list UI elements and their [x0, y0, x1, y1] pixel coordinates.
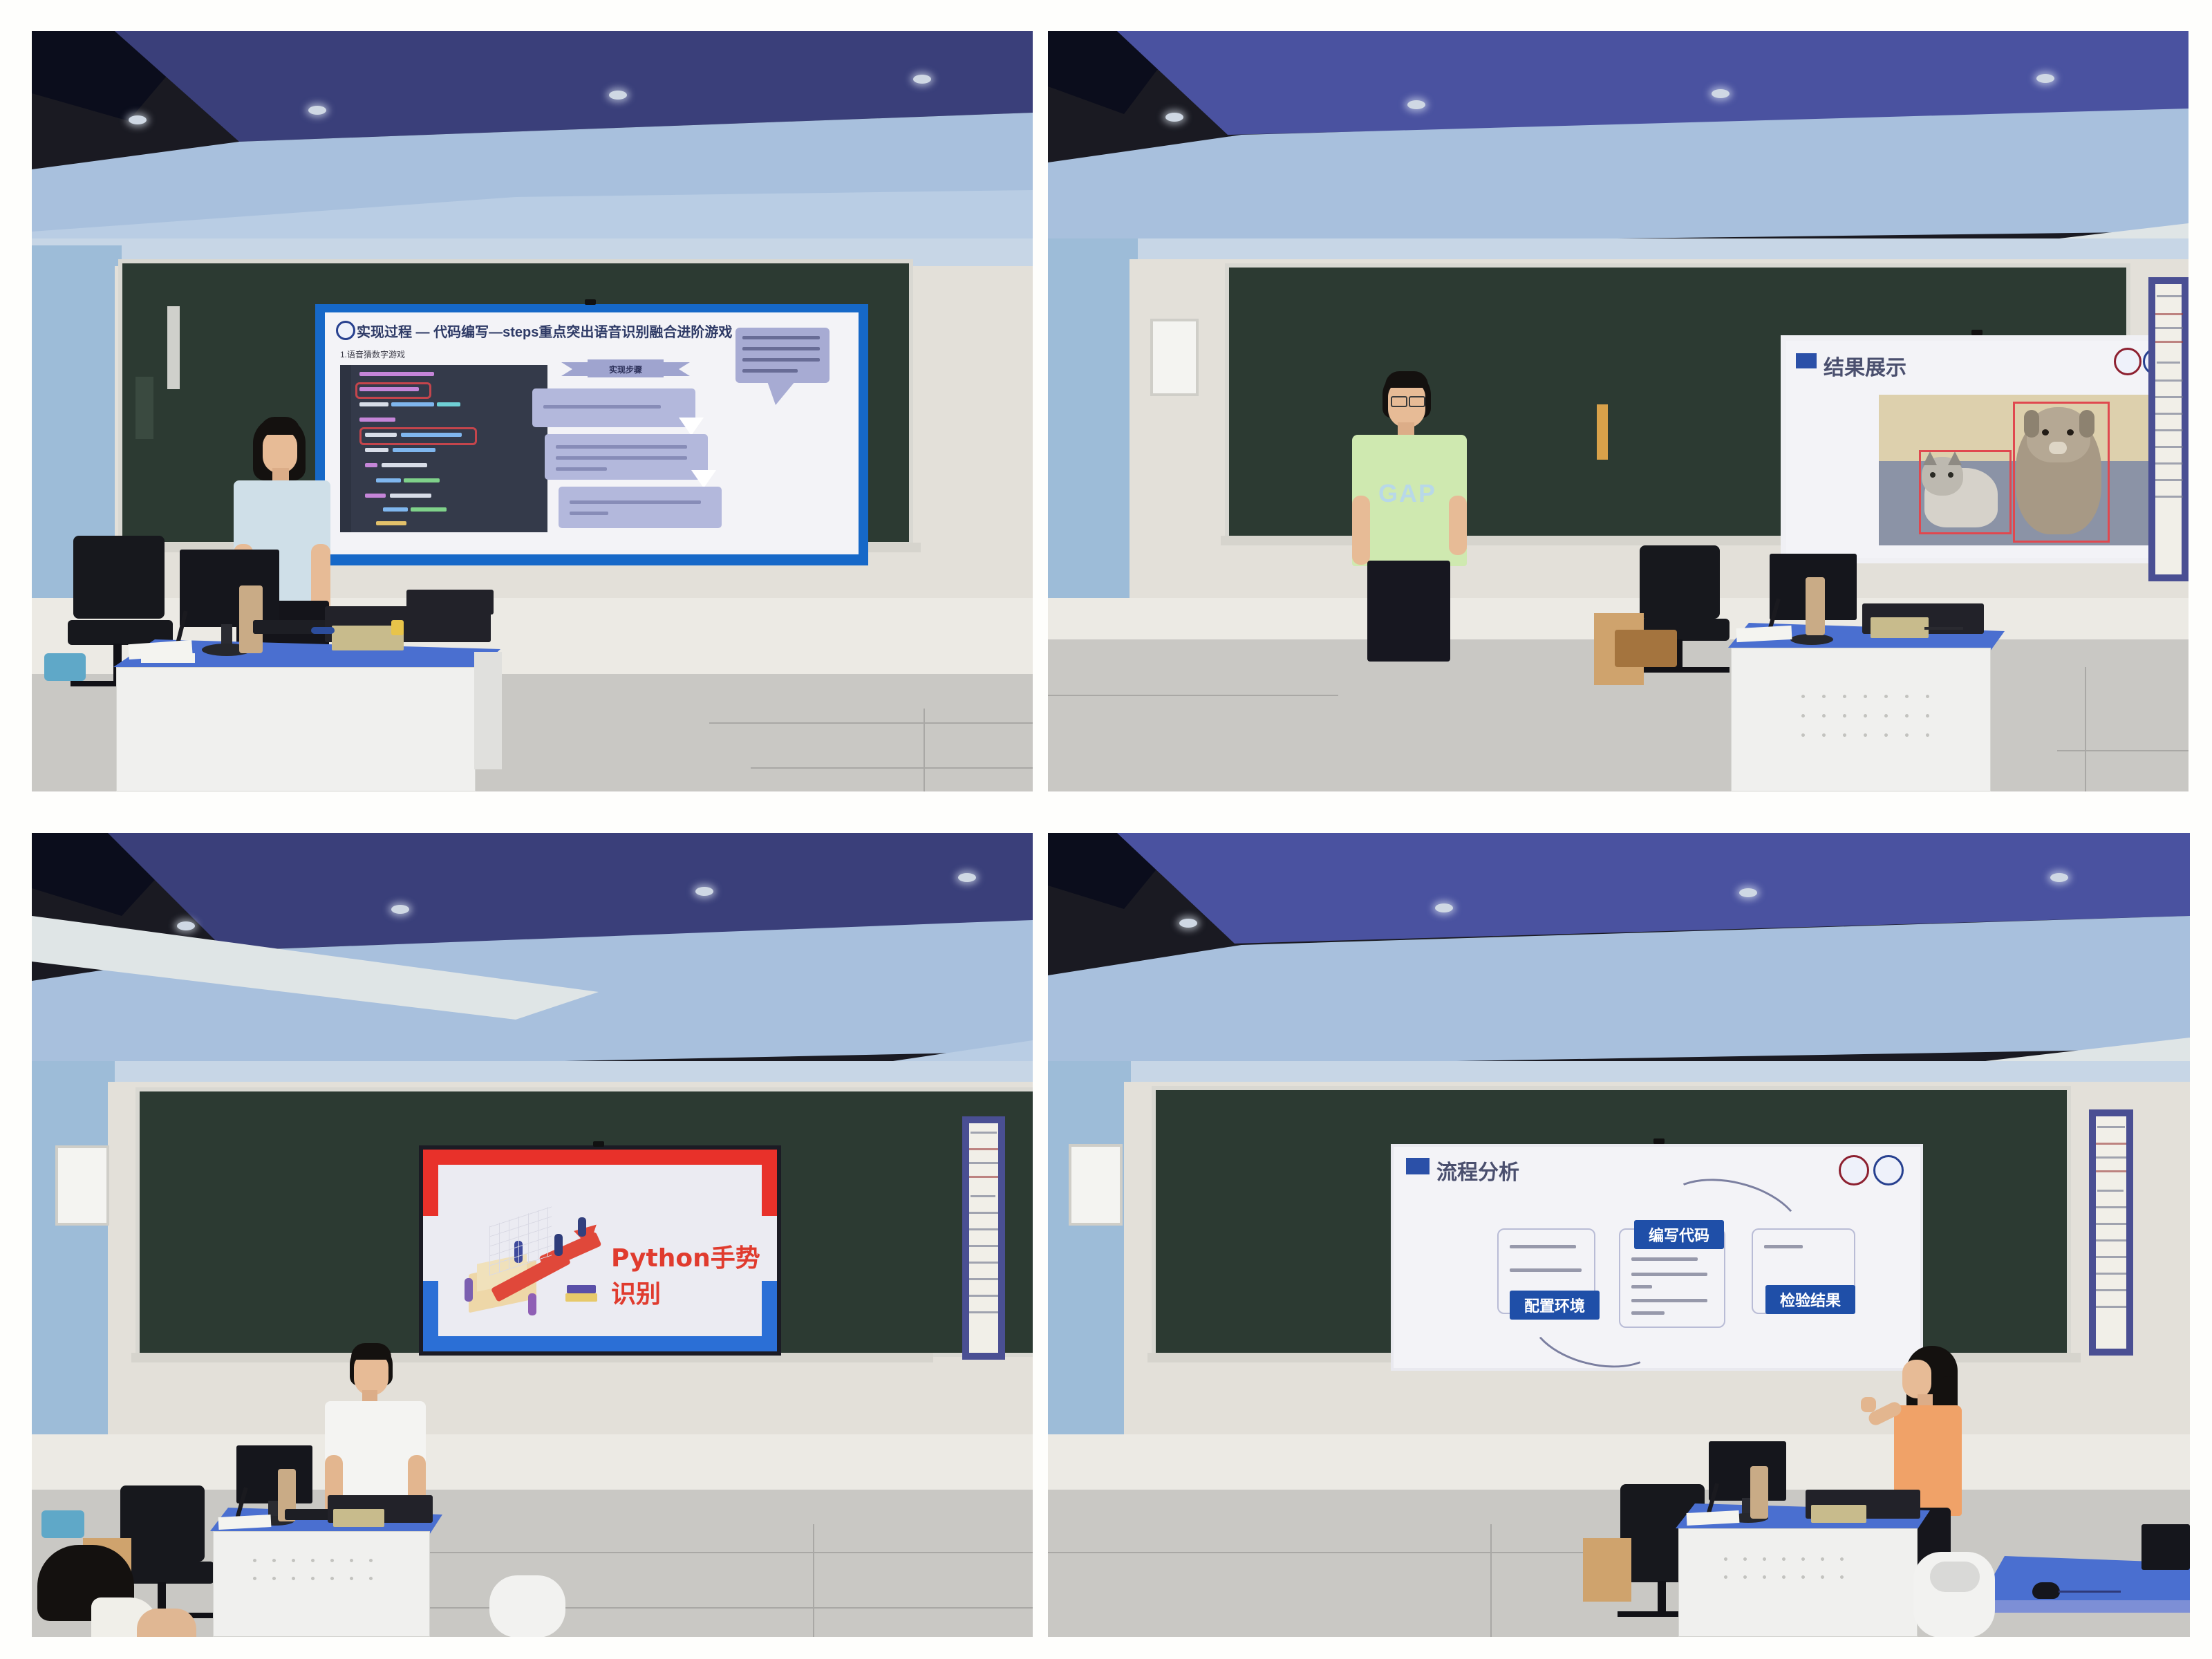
small-whiteboard — [1069, 1144, 1123, 1226]
screen-camera-dot — [1653, 1138, 1665, 1144]
school-logo-icon-1 — [2114, 348, 2141, 375]
photo-panel-bottom-left: Python手势识别 — [32, 833, 1033, 1637]
screen-camera-dot — [593, 1141, 604, 1147]
detection-box-dog — [2013, 402, 2110, 543]
desk-cable — [1924, 627, 1963, 630]
blue-basin — [41, 1510, 84, 1538]
desk-monitor — [180, 550, 279, 627]
screen-camera-dot — [1971, 330, 1983, 335]
ceiling-light-4 — [2050, 873, 2068, 882]
ceiling-light-4 — [2036, 74, 2054, 83]
desk-scissors — [311, 627, 335, 634]
mouse-cable — [2059, 1591, 2121, 1593]
desk-cardboard-box — [333, 1509, 384, 1527]
slide-title: 实现过程 — 代码编写—steps重点突出语音识别融合进阶游戏 — [357, 321, 732, 341]
illustration-books — [567, 1285, 596, 1293]
floor-tile-line-2 — [2085, 667, 2086, 791]
presenter-fringe — [351, 1343, 391, 1360]
photo-panel-top-right: 结果展示 — [1048, 31, 2188, 791]
cardboard-bin — [1583, 1538, 1631, 1602]
blue-basin — [44, 653, 86, 681]
floor-tile-line-1 — [1048, 1552, 1615, 1553]
desk-monitor — [236, 1445, 312, 1503]
ceiling-light-3 — [1712, 89, 1730, 98]
desk-papers — [1736, 626, 1792, 642]
blackboard-side-slider — [135, 377, 153, 439]
code-gutter — [340, 365, 351, 532]
illustration-person-4 — [578, 1217, 586, 1237]
presenter-arm-right — [1449, 496, 1467, 555]
ceiling-light-1 — [177, 921, 195, 930]
illustration-person-1 — [465, 1278, 473, 1302]
school-logo-icon-1 — [1839, 1155, 1869, 1185]
wall-blue-left — [1048, 238, 1138, 632]
small-whiteboard — [55, 1145, 109, 1226]
desk-equipment-2 — [406, 590, 494, 615]
floor-tile-line-2 — [751, 767, 1033, 769]
slide-title-python: Python手势识别 — [611, 1238, 777, 1310]
thermos-cup — [239, 585, 263, 653]
slide-ribbon-tail-left — [561, 362, 590, 376]
poster-heading-line — [2157, 295, 2182, 297]
illustration-books-2 — [565, 1293, 597, 1302]
wall-blue-left — [1048, 1061, 1131, 1490]
thermos-cup — [1750, 1466, 1768, 1519]
monitor-base — [1790, 634, 1833, 645]
office-chair-base — [1637, 667, 1730, 673]
presenter-trousers — [1367, 561, 1450, 662]
glasses-icon-right — [1409, 396, 1425, 407]
slide-python-title: Python手势识别 — [423, 1150, 777, 1351]
ceiling-light-2 — [1435, 903, 1453, 912]
foreground-white-chair-arm — [1930, 1562, 1980, 1592]
slide-accent-band-red — [423, 1150, 777, 1165]
slide-results-display: 结果展示 — [1786, 341, 2176, 558]
ceiling-light-4 — [958, 873, 976, 882]
slide-logo-icon — [336, 321, 355, 340]
slide-accent-band-blue-bottom — [423, 1336, 777, 1351]
code-highlight-2 — [359, 427, 477, 445]
ceiling-light-1 — [1165, 113, 1183, 122]
desk-perforation-panel — [1801, 695, 1940, 749]
presenter-fringe — [260, 417, 300, 435]
office-chair-back — [73, 536, 165, 619]
teacher-desk-side — [474, 652, 502, 769]
computer-mouse — [2032, 1582, 2060, 1599]
floor-tile-line-3 — [2057, 750, 2188, 751]
ceiling-light-3 — [1739, 888, 1757, 897]
student-desk-edge — [1980, 1600, 2190, 1613]
office-chair-back — [120, 1485, 205, 1562]
office-chair-back — [1640, 545, 1720, 619]
desk-monitor — [1709, 1441, 1786, 1501]
glasses-icon — [1391, 396, 1407, 407]
ceiling-light-2 — [1407, 100, 1425, 109]
desk-yellow-tool — [391, 620, 404, 635]
wall-bracket — [167, 306, 180, 389]
floor-tile-line-3 — [924, 709, 925, 791]
desk-perforation-panel — [253, 1559, 391, 1597]
ceiling-light-3 — [609, 91, 627, 100]
floor-tile-line-2 — [813, 1524, 814, 1637]
slide-title: 流程分析 — [1436, 1155, 1519, 1185]
desk-cardboard-box — [1811, 1505, 1866, 1523]
slide-implementation-process: 实现过程 — 代码编写—steps重点突出语音识别融合进阶游戏 1.语音猜数字游… — [325, 312, 859, 554]
ceiling-light-4 — [913, 75, 931, 84]
slide-ribbon-tail-right — [661, 362, 690, 376]
flow-label-verify-result: 检验结果 — [1765, 1285, 1855, 1314]
office-chair-leg — [1658, 1581, 1666, 1615]
slide-subtitle: 1.语音猜数字游戏 — [340, 348, 405, 360]
slide-flow-arrow-1 — [679, 418, 704, 435]
presenter-face — [1902, 1360, 1931, 1398]
foreground-white-chair — [489, 1575, 565, 1637]
slide-accent-band-red-left — [423, 1150, 438, 1216]
ceiling-light-1 — [129, 115, 147, 124]
slide-accent-band-red-right — [762, 1150, 777, 1216]
slide-title: 结果展示 — [1824, 350, 1906, 381]
shirt-logo: GAP — [1378, 479, 1436, 508]
code-highlight-1 — [355, 382, 431, 399]
slide-flow-step-3 — [559, 487, 722, 528]
wall-blue-left — [32, 1061, 115, 1490]
presenter-hand-pointing — [1861, 1397, 1876, 1412]
ceiling-light-2 — [308, 106, 326, 115]
desk-cardboard-box — [1871, 617, 1929, 638]
illustration-person-5 — [528, 1293, 536, 1315]
photo-panel-top-left: 实现过程 — 代码编写—steps重点突出语音识别融合进阶游戏 1.语音猜数字游… — [32, 31, 1033, 791]
floor-bag — [1597, 404, 1608, 460]
slide-code-block — [340, 365, 547, 532]
photo-panel-bottom-right: 流程分析 编写代码 配置环境 检验结果 — [1048, 833, 2190, 1637]
presenter-face — [263, 431, 297, 474]
presenter-arm-left — [1352, 496, 1370, 565]
slide-process-analysis: 流程分析 编写代码 配置环境 检验结果 — [1394, 1147, 1920, 1368]
slide-title-bullet — [1796, 353, 1817, 368]
slide-title-bullet — [1406, 1158, 1430, 1174]
floor-tile-line-1 — [350, 1552, 1033, 1553]
screen-camera-dot — [585, 299, 596, 305]
desk-perforation-panel — [1724, 1557, 1862, 1596]
foreground-student-arm — [137, 1609, 196, 1637]
slide-callout-tail — [767, 382, 795, 405]
thermos-cup — [1806, 577, 1825, 635]
slide-ribbon-label: 实现步骤 — [588, 364, 664, 375]
school-logo-icon-2 — [1873, 1155, 1904, 1185]
illustration-person-3 — [554, 1234, 563, 1256]
floor-tile-line-2 — [1490, 1524, 1492, 1637]
presenter-fringe — [1385, 371, 1428, 388]
slide-flow-arrow-2 — [691, 470, 716, 488]
wall-poster-core-values — [962, 1116, 1005, 1360]
small-whiteboard — [1150, 319, 1199, 396]
floor-clutter — [1615, 630, 1677, 667]
photo-collage: 实现过程 — 代码编写—steps重点突出语音识别融合进阶游戏 1.语音猜数字游… — [0, 0, 2212, 1659]
floor-tile-line-1 — [1048, 695, 1338, 696]
floor-tile-line-1 — [709, 722, 1033, 724]
ceiling-light-3 — [695, 887, 713, 896]
student-desk-monitor — [2141, 1524, 2190, 1570]
ceiling-light-2 — [391, 905, 409, 914]
ceiling-light-1 — [1179, 919, 1197, 928]
wall-poster-core-values — [2089, 1109, 2133, 1356]
detection-box-cat — [1919, 450, 2012, 534]
desk-papers-2 — [141, 653, 195, 663]
teacher-desk-body — [116, 667, 476, 791]
